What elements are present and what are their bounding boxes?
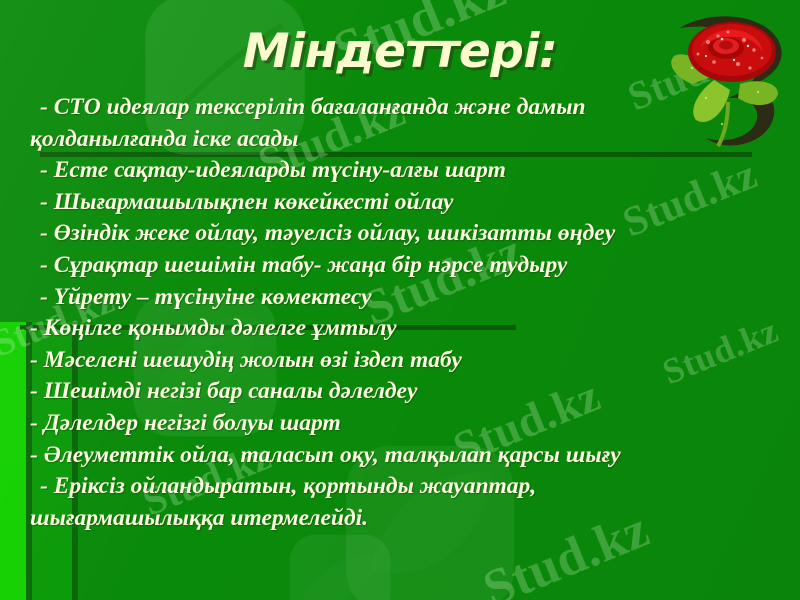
list-item: - СТО идеялар тексеріліп бағаланғанда жә… — [30, 92, 750, 124]
page-title: Міндеттері: — [0, 24, 800, 79]
list-item: - Шешімді негізі бар саналы дәлелдеу — [30, 376, 750, 408]
bullet-list: - СТО идеялар тексеріліп бағаланғанда жә… — [30, 92, 750, 534]
left-accent-strip — [0, 322, 26, 600]
list-item: - Еріксіз ойландыратын, қортынды жауапта… — [30, 471, 750, 503]
list-item: - Дәлелдер негізгі болуы шарт — [30, 408, 750, 440]
list-item: - Үйрету – түсінуіне көмектесу — [30, 282, 750, 314]
list-item: - Сұрақтар шешімін табу- жаңа бір нәрсе … — [30, 250, 750, 282]
list-item: - Өзіндік жеке ойлау, тәуелсіз ойлау, ши… — [30, 218, 750, 250]
list-item-continuation: қолданылғанда іске асады — [30, 124, 750, 156]
list-item: - Шығармашылықпен көкейкесті ойлау — [30, 187, 750, 219]
list-item-continuation: шығармашылыққа итермелейді. — [30, 503, 750, 535]
list-item: - Мәселені шешудің жолын өзі іздеп табу — [30, 345, 750, 377]
list-item: - Көңілге қонымды дәлелге ұмтылу — [30, 313, 750, 345]
list-item: - Әлеуметтік ойла, таласып оқу, талқылап… — [30, 440, 750, 472]
list-item: - Есте сақтау-идеяларды түсіну-алғы шарт — [30, 155, 750, 187]
slide-canvas: Stud.kz Stud.kz Stud.kz Stud.kz Stud.kz … — [0, 0, 800, 600]
